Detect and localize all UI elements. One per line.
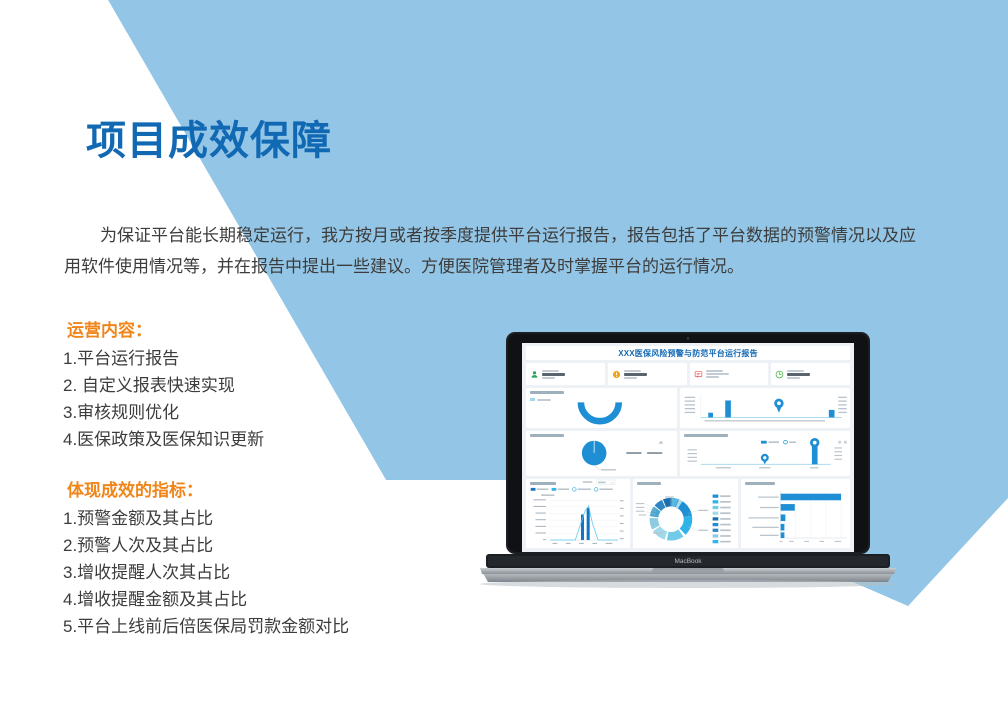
amount-distribution-panel[interactable] bbox=[526, 479, 630, 548]
operations-list: 1.平台运行报告 2. 自定义报表快速实现 3.审核规则优化 4.医保政策及医保… bbox=[63, 345, 264, 453]
list-item: 3.增收提醒人次其占比 bbox=[63, 559, 349, 586]
laptop-mockup: MacBook XXX医保风险预警与防范平台运行报告 bbox=[478, 330, 898, 592]
alert-icon bbox=[612, 370, 621, 379]
bar bbox=[780, 514, 785, 521]
slide-canvas: 项目成效保障 为保证平台能长期稳定运行，我方按月或者按季度提供平台运行报告，报告… bbox=[0, 0, 1008, 713]
donut-chart bbox=[647, 495, 695, 543]
dashboard-screen: XXX医保风险预警与防范平台运行报告 bbox=[522, 343, 854, 552]
list-item: 5.平台上线前后倍医保局罚款金额对比 bbox=[63, 613, 349, 640]
dashboard-row-3 bbox=[526, 431, 850, 476]
bar bbox=[780, 504, 794, 511]
operations-heading: 运营内容： bbox=[67, 318, 264, 344]
kpi-card-row bbox=[526, 363, 850, 385]
list-item: 2.预警人次及其占比 bbox=[63, 532, 349, 559]
dashboard-row-2 bbox=[526, 388, 850, 428]
clock-icon bbox=[775, 370, 784, 379]
intro-paragraph-text: 为保证平台能长期稳定运行，我方按月或者按季度提供平台运行报告，报告包括了平台数据… bbox=[64, 226, 916, 276]
message-icon bbox=[694, 370, 703, 379]
trend-legend bbox=[761, 440, 796, 444]
list-item: 1.预警金额及其占比 bbox=[63, 505, 349, 532]
ranking-bar-panel[interactable] bbox=[741, 479, 850, 548]
bar bbox=[587, 508, 590, 540]
bar bbox=[780, 532, 784, 538]
metrics-section: 体现成效的指标： 1.预警金额及其占比 2.预警人次及其占比 3.增收提醒人次其… bbox=[63, 478, 349, 640]
pie-panel[interactable] bbox=[526, 431, 677, 476]
gauge-arc bbox=[581, 402, 619, 421]
metrics-heading: 体现成效的指标： bbox=[67, 478, 349, 504]
chart-legend bbox=[531, 488, 613, 492]
list-item: 2. 自定义报表快速实现 bbox=[63, 372, 264, 399]
dashboard-title: XXX医保风险预警与防范平台运行报告 bbox=[526, 346, 850, 360]
map-pin-marker bbox=[775, 399, 784, 413]
list-item: 3.审核规则优化 bbox=[63, 399, 264, 426]
user-icon bbox=[530, 370, 539, 379]
kpi-card[interactable] bbox=[690, 363, 769, 385]
list-item: 1.平台运行报告 bbox=[63, 345, 264, 372]
operations-section: 运营内容： 1.平台运行报告 2. 自定义报表快速实现 3.审核规则优化 4.医… bbox=[63, 318, 264, 453]
line-series bbox=[551, 506, 618, 540]
trend-panel[interactable] bbox=[680, 431, 850, 476]
kpi-card[interactable] bbox=[771, 363, 850, 385]
laptop-brand-label: MacBook bbox=[674, 558, 702, 565]
kpi-card[interactable] bbox=[526, 363, 605, 385]
bar bbox=[780, 494, 840, 501]
dashboard-root: XXX医保风险预警与防范平台运行报告 bbox=[522, 343, 854, 552]
metrics-list: 1.预警金额及其占比 2.预警人次及其占比 3.增收提醒人次其占比 4.增收提醒… bbox=[63, 505, 349, 640]
dashboard-row-4 bbox=[526, 479, 850, 548]
list-item: 4.医保政策及医保知识更新 bbox=[63, 426, 264, 453]
bar bbox=[780, 524, 784, 531]
kpi-card[interactable] bbox=[608, 363, 687, 385]
list-item: 4.增收提醒金额及其占比 bbox=[63, 586, 349, 613]
donut-legend bbox=[713, 495, 731, 544]
gauge-panel[interactable] bbox=[526, 388, 677, 428]
page-title: 项目成效保障 bbox=[86, 121, 332, 161]
region-bar-panel[interactable] bbox=[680, 388, 850, 428]
category-donut-panel[interactable] bbox=[633, 479, 737, 548]
intro-paragraph: 为保证平台能长期稳定运行，我方按月或者按季度提供平台运行报告，报告包括了平台数据… bbox=[64, 220, 916, 282]
